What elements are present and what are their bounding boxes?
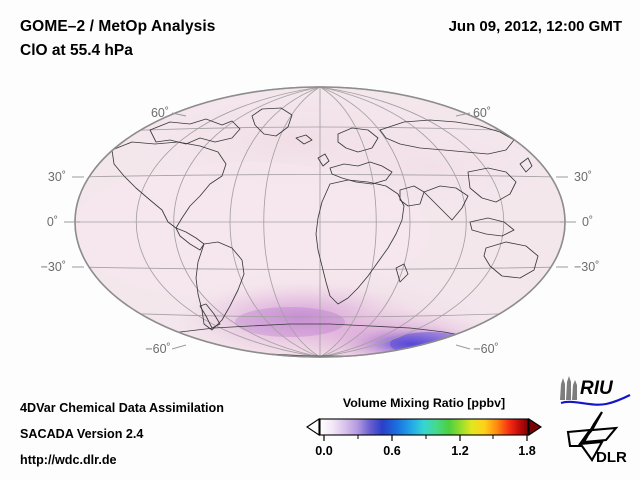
riu-logo: RIU [556,374,634,408]
lat-label-60S-left: −60˚ [145,342,170,356]
lat-label-left-2: −30˚ [41,260,66,274]
cb-label-3: 1.8 [518,444,536,458]
colorbar-minor-ticks [358,435,493,439]
datetime-label: Jun 09, 2012, 12:00 GMT [449,18,622,35]
lat-label-right-2: −30˚ [574,260,599,274]
dlr-logo-text: DLR [596,449,627,466]
riu-tower-icon [560,376,577,400]
footer-line-3[interactable]: http://wdc.dlr.de [20,453,117,467]
lat-label-right-1: 0˚ [582,215,593,229]
world-map: 30˚ 0˚ −30˚ 30˚ 0˚ −30˚ 60˚ 60˚ −60˚ −60… [0,72,640,382]
lat-label-60N-left: 60˚ [151,106,169,120]
cb-label-2: 1.2 [451,444,469,458]
map-svg: 30˚ 0˚ −30˚ 30˚ 0˚ −30˚ 60˚ 60˚ −60˚ −60… [0,72,640,382]
lat-label-right-0: 30˚ [574,170,592,184]
lat-label-60N-right: 60˚ [473,106,491,120]
field-antarctic-secondary [235,307,345,337]
tick-60S-right [456,345,470,349]
cb-label-1: 0.6 [383,444,401,458]
colorbar-right-arrow [529,419,541,435]
colorbar: Volume Mixing Ratio [ppbv] [305,396,543,468]
riu-logo-text: RIU [580,378,614,399]
figure-canvas: GOME–2 / MetOp Analysis ClO at 55.4 hPa … [0,0,640,480]
page-subtitle: ClO at 55.4 hPa [20,42,133,60]
footer-line-1: 4DVar Chemical Data Assimilation [20,401,224,415]
colorbar-tick-labels: 0.0 0.6 1.2 1.8 [305,444,543,462]
colorbar-left-arrow [307,419,319,435]
cb-label-0: 0.0 [315,444,333,458]
lat-label-left-1: 0˚ [47,215,58,229]
tick-60S-left [172,345,186,349]
lat-label-left-0: 30˚ [48,170,66,184]
coastline-new-zealand [552,268,562,282]
colorbar-svg [305,416,543,446]
colorbar-title: Volume Mixing Ratio [ppbv] [305,396,543,410]
colorbar-gradient-bar [320,419,528,435]
footer-line-2: SACADA Version 2.4 [20,427,143,441]
lat-label-60S-right: −60˚ [473,342,498,356]
dlr-logo: DLR [562,410,634,466]
page-title: GOME–2 / MetOp Analysis [20,18,216,36]
